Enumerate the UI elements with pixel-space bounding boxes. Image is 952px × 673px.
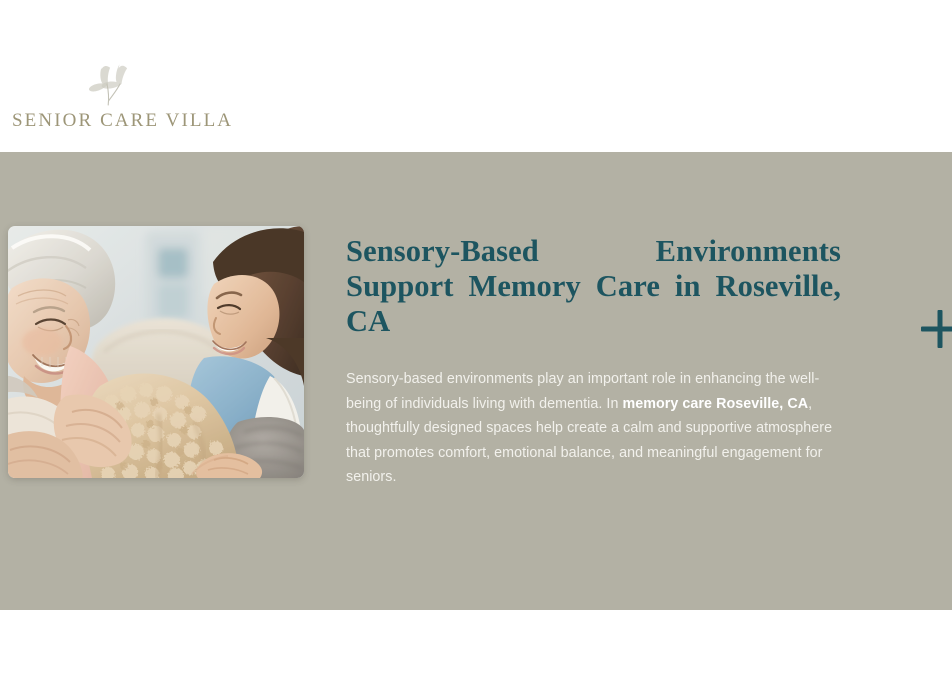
brand-logo[interactable]: SENIOR CARE VILLA bbox=[12, 58, 212, 140]
ginkgo-leaf-icon bbox=[78, 58, 146, 110]
hero-text-column: Sensory-Based Environments Support Memor… bbox=[346, 234, 841, 490]
hero-keyword-highlight: memory care Roseville, CA bbox=[622, 396, 808, 412]
site-header: SENIOR CARE VILLA bbox=[0, 0, 952, 152]
senior-and-caregiver-photo bbox=[8, 226, 304, 478]
brand-name: SENIOR CARE VILLA bbox=[12, 110, 233, 133]
page-title: Sensory-Based Environments Support Memor… bbox=[346, 234, 841, 339]
hero-paragraph: Sensory-based environments play an impor… bbox=[346, 339, 841, 490]
page-lower-white-area bbox=[0, 610, 952, 673]
plus-icon-top-right bbox=[921, 310, 952, 348]
